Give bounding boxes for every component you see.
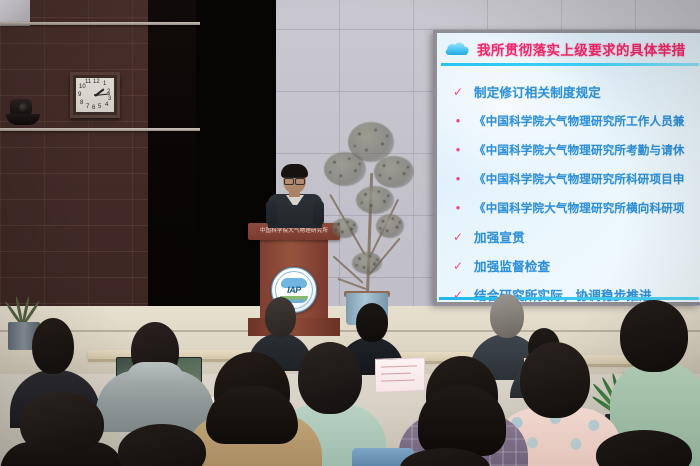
check-icon: ✓ xyxy=(453,260,463,272)
slide-title: 我所贯彻落实上级要求的具体举措 xyxy=(477,39,686,59)
bullet-text: 《中国科学院大气物理研究所横向科研项 xyxy=(474,200,685,216)
person-head xyxy=(620,300,688,372)
potted-tree xyxy=(318,110,418,325)
jacket-hood xyxy=(126,362,184,388)
clock-numeral: 4 xyxy=(105,102,108,108)
bullet-text: 《中国科学院大气物理研究所科研项目申 xyxy=(474,171,685,187)
ptz-camera-icon xyxy=(6,99,40,129)
wall-trim-upper xyxy=(0,22,200,25)
person-head xyxy=(356,303,388,342)
clock-numeral: 11 xyxy=(85,79,91,85)
wall-clock: 12 1 2 3 4 5 6 7 8 9 10 11 xyxy=(70,72,120,118)
camera-lens xyxy=(19,103,28,112)
bullet-item: • 《中国科学院大气物理研究所工作人员兼 xyxy=(453,106,700,135)
person-head xyxy=(118,424,206,466)
person-head xyxy=(265,297,296,337)
cloud-icon xyxy=(444,41,470,56)
bullet-text: 加强监督检查 xyxy=(474,256,550,275)
logo-text: IAP xyxy=(272,285,316,295)
person-head xyxy=(20,392,104,456)
clock-numeral: 6 xyxy=(92,105,95,111)
check-icon: ✓ xyxy=(453,231,463,243)
dot-icon: • xyxy=(453,172,463,185)
audience-person xyxy=(596,430,700,466)
speaker-arm-left xyxy=(266,200,277,226)
person-head xyxy=(520,342,590,418)
clock-numeral: 1 xyxy=(103,81,106,87)
check-icon: ✓ xyxy=(453,86,463,98)
tree-foliage xyxy=(356,186,394,214)
audience-person xyxy=(0,392,124,466)
clock-numeral: 9 xyxy=(78,92,81,98)
clock-numeral: 5 xyxy=(98,104,101,110)
audience-person xyxy=(108,424,216,466)
slide-title-bar: 我所贯彻落实上级要求的具体举措 xyxy=(437,36,700,61)
speaker-arm-right xyxy=(313,200,324,226)
person-head xyxy=(596,430,692,466)
tree-branch xyxy=(337,278,366,290)
bullet-text: 《中国科学院大气物理研究所考勤与请休 xyxy=(474,142,685,158)
dot-icon: • xyxy=(453,114,463,127)
tree-foliage xyxy=(374,156,414,188)
bullet-item: ✓ 加强宣贯 xyxy=(453,222,700,251)
tree-foliage xyxy=(332,218,358,238)
clock-numeral: 3 xyxy=(108,96,111,102)
person-head xyxy=(32,318,74,374)
bullet-item: • 《中国科学院大气物理研究所考勤与请休 xyxy=(453,135,700,164)
camera-mount xyxy=(6,114,40,125)
audience-person xyxy=(400,448,490,466)
speaker-hair xyxy=(281,164,308,178)
bullet-text: 《中国科学院大气物理研究所工作人员兼 xyxy=(474,113,685,129)
bullet-item: ✓ 加强监督检查 xyxy=(453,251,700,280)
glasses-icon xyxy=(284,177,305,183)
slide-bullet-list: ✓ 制定修订相关制度规定 • 《中国科学院大气物理研究所工作人员兼 • 《中国科… xyxy=(453,77,700,302)
photo-scene: 12 1 2 3 4 5 6 7 8 9 10 11 xyxy=(0,0,700,466)
bullet-item: • 《中国科学院大气物理研究所横向科研项 xyxy=(453,193,700,222)
clock-numeral: 12 xyxy=(93,79,100,85)
left-brick-wall xyxy=(0,0,150,330)
clock-face: 12 1 2 3 4 5 6 7 8 9 10 11 xyxy=(76,78,114,112)
clock-numeral: 8 xyxy=(80,100,83,106)
slide-title-underline xyxy=(441,63,699,66)
tree-foliage xyxy=(376,214,404,238)
dot-icon: • xyxy=(453,143,463,156)
bullet-text: 制定修订相关制度规定 xyxy=(474,82,601,101)
clock-numeral: 7 xyxy=(86,104,89,110)
person-head xyxy=(400,448,490,466)
dot-icon: • xyxy=(453,201,463,214)
bullet-item: • 《中国科学院大气物理研究所科研项目申 xyxy=(453,164,700,193)
tree-foliage xyxy=(352,252,382,274)
tree-foliage xyxy=(324,152,366,186)
person-hair xyxy=(418,386,506,456)
bullet-item: ✓ 制定修订相关制度规定 xyxy=(453,77,700,106)
projection-screen: 我所贯彻落实上级要求的具体举措 ✓ 制定修订相关制度规定 • 《中国科学院大气物… xyxy=(437,33,700,302)
speaker-person xyxy=(268,166,322,228)
bullet-text: 加强宣贯 xyxy=(474,227,525,246)
clock-center-pin xyxy=(94,94,96,96)
